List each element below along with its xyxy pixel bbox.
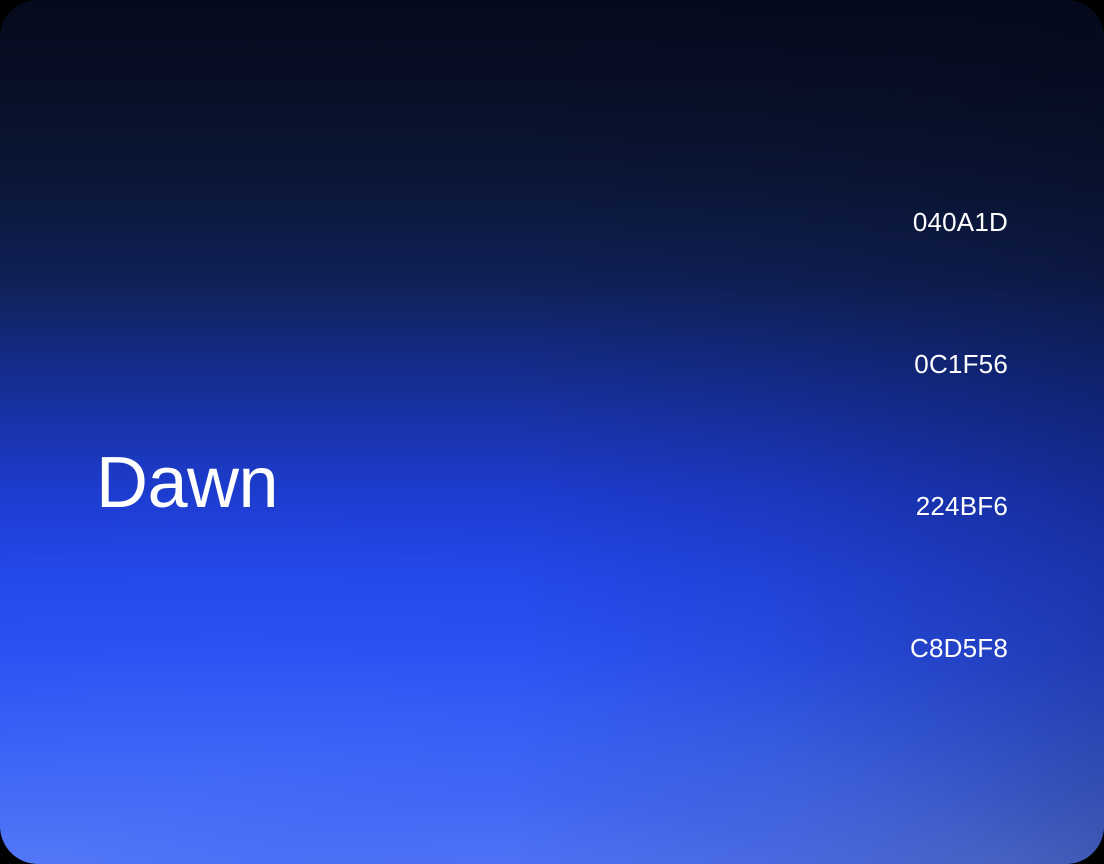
- swatch-label-1[interactable]: 040A1D: [708, 204, 1008, 346]
- swatch-label-4[interactable]: C8D5F8: [708, 630, 1008, 772]
- palette-title: Dawn: [96, 445, 278, 521]
- swatch-label-list: 040A1D 0C1F56 224BF6 C8D5F8: [708, 204, 1008, 772]
- swatch-label-2[interactable]: 0C1F56: [708, 346, 1008, 488]
- palette-card: Dawn 040A1D 0C1F56 224BF6 C8D5F8: [0, 0, 1104, 864]
- swatch-label-3[interactable]: 224BF6: [708, 488, 1008, 630]
- card-content: Dawn 040A1D 0C1F56 224BF6 C8D5F8: [0, 0, 1104, 864]
